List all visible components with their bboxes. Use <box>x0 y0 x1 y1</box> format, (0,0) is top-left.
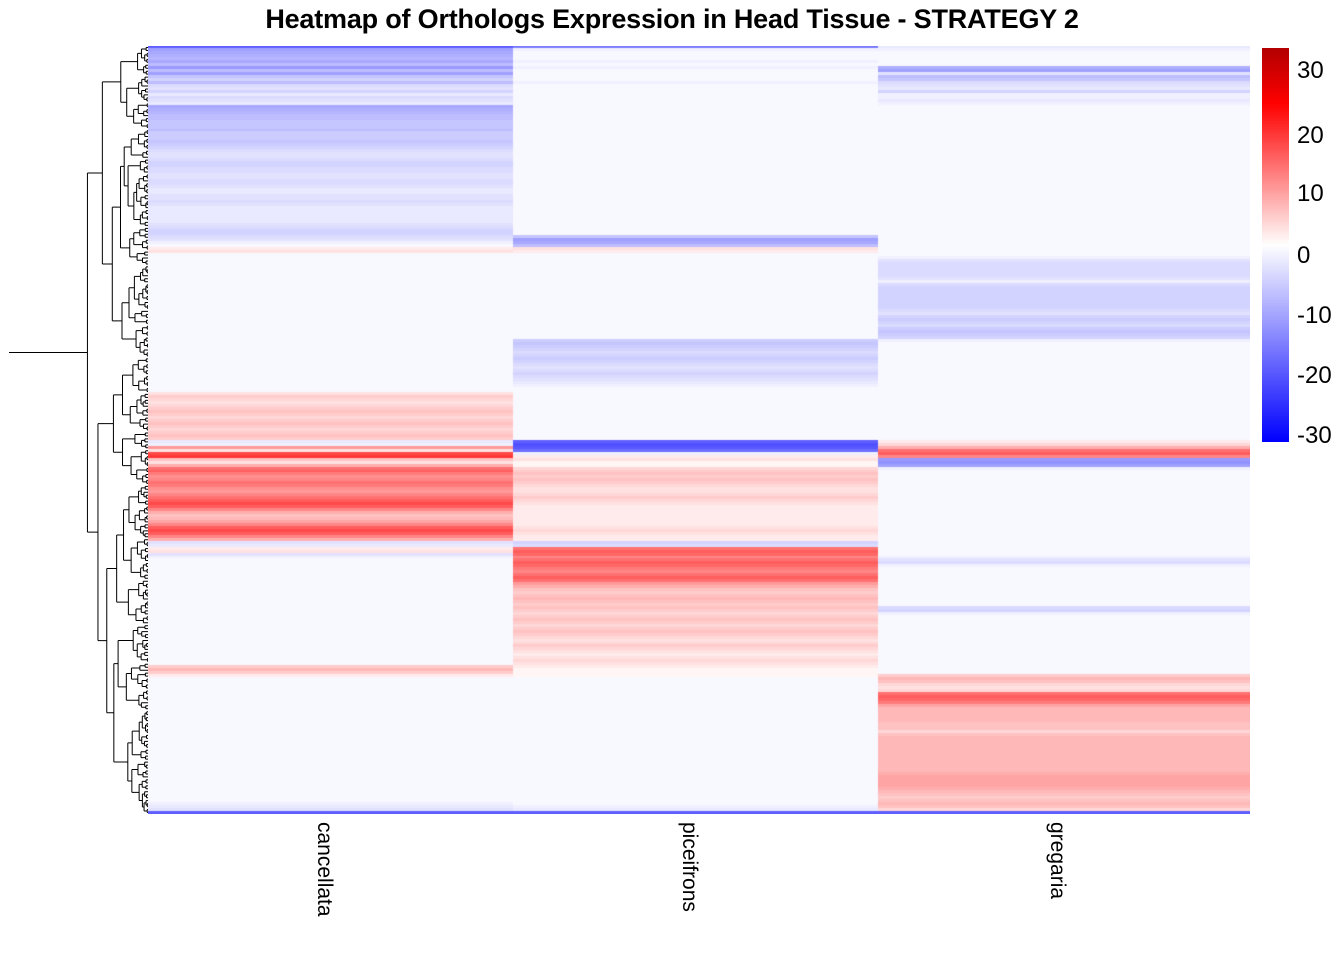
row-dendrogram <box>8 46 148 814</box>
colorbar-tick-neg20: -20 <box>1297 364 1332 388</box>
column-label-gregaria: gregaria <box>1045 822 1069 899</box>
colorbar: 30 20 10 0 -10 -20 -30 <box>1262 48 1344 442</box>
colorbar-tick-20: 20 <box>1297 124 1324 148</box>
column-label-piceifrons: piceifrons <box>677 822 701 912</box>
column-label-cancellata: cancellata <box>312 822 336 917</box>
colorbar-tick-neg30: -30 <box>1297 424 1332 448</box>
colorbar-gradient <box>1262 48 1289 442</box>
colorbar-tick-30: 30 <box>1297 59 1324 83</box>
heatmap-figure: Heatmap of Orthologs Expression in Head … <box>0 0 1344 960</box>
colorbar-tick-neg10: -10 <box>1297 304 1332 328</box>
colorbar-tick-10: 10 <box>1297 182 1324 206</box>
page-title: Heatmap of Orthologs Expression in Head … <box>0 4 1344 35</box>
heatmap-canvas[interactable] <box>148 46 1250 814</box>
heatmap-grid[interactable] <box>148 46 1250 814</box>
dendrogram-branches <box>9 47 148 812</box>
colorbar-tick-0: 0 <box>1297 244 1310 268</box>
